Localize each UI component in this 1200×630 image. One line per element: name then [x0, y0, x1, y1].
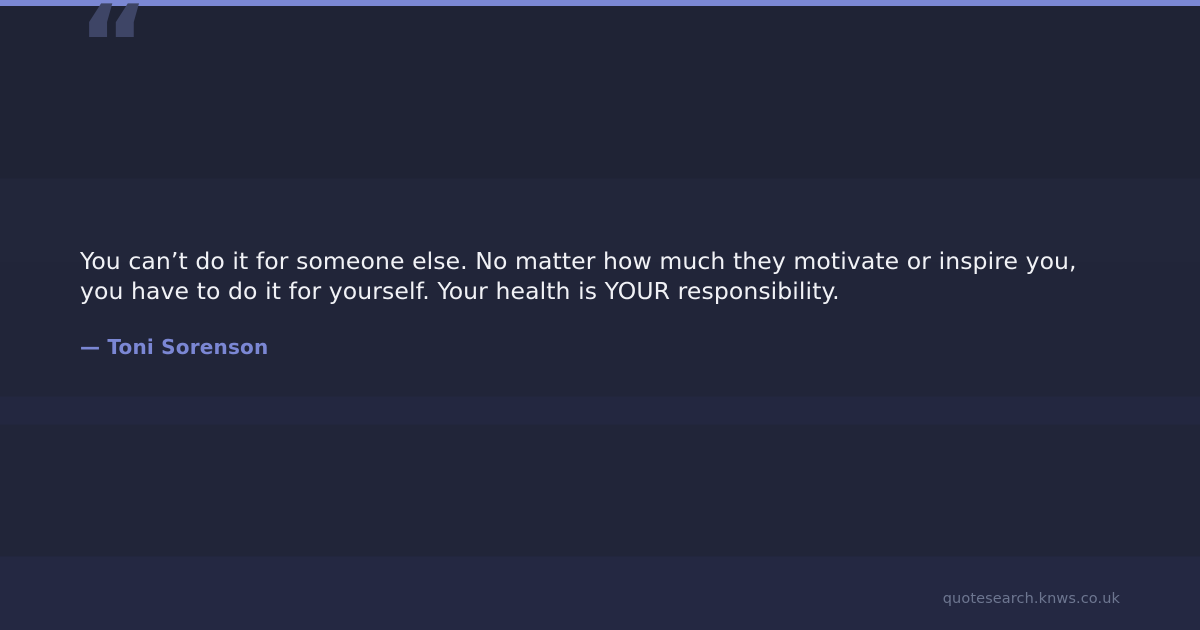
- quote-attribution: — Toni Sorenson: [80, 334, 268, 360]
- source-url-label: quotesearch.knws.co.uk: [943, 590, 1120, 608]
- open-quote-icon: “: [78, 0, 147, 100]
- top-accent-bar: [0, 0, 1200, 6]
- quote-text: You can’t do it for someone else. No mat…: [80, 246, 1126, 306]
- quote-card: “ You can’t do it for someone else. No m…: [0, 0, 1200, 630]
- quote-block: You can’t do it for someone else. No mat…: [80, 246, 1126, 306]
